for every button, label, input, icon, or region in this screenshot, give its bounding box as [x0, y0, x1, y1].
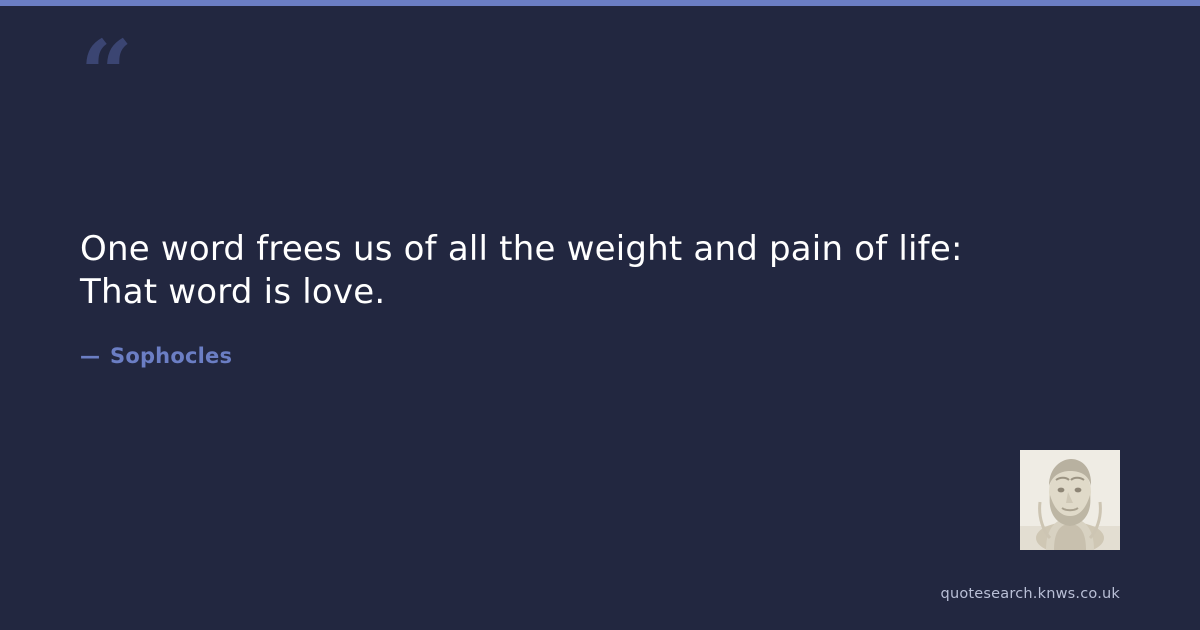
top-accent-bar	[0, 0, 1200, 6]
quote-block: One word frees us of all the weight and …	[80, 228, 1020, 313]
bust-illustration-icon	[1020, 450, 1120, 550]
author-portrait-image	[1020, 450, 1120, 550]
author-dash: —	[80, 344, 100, 368]
site-url-label: quotesearch.knws.co.uk	[941, 586, 1120, 602]
author-name: Sophocles	[110, 344, 232, 368]
author-attribution: — Sophocles	[80, 344, 232, 368]
quote-card: “ One word frees us of all the weight an…	[0, 0, 1200, 630]
quote-text: One word frees us of all the weight and …	[80, 228, 1020, 313]
quote-mark-icon: “	[80, 28, 131, 120]
